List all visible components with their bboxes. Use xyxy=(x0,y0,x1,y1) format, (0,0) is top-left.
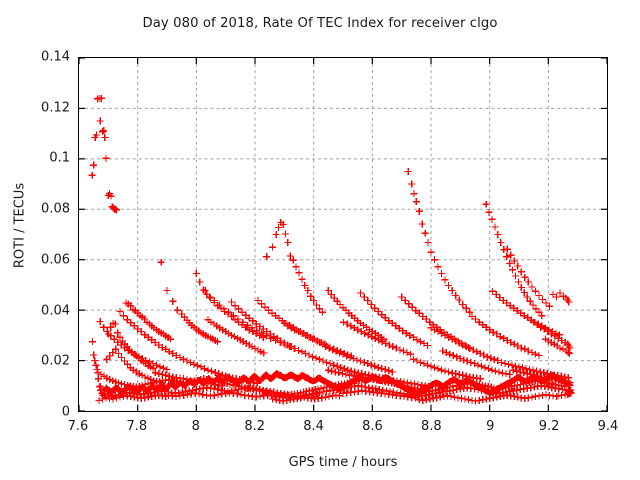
axis-ticks xyxy=(79,58,607,411)
y-tick-label: 0.02 xyxy=(41,354,70,369)
x-tick-label: 7.6 xyxy=(68,419,89,434)
x-tick-label: 9.2 xyxy=(539,419,560,434)
grid-layer xyxy=(79,58,607,411)
y-tick-label: 0.1 xyxy=(49,151,70,166)
x-tick-label: 8.8 xyxy=(421,419,442,434)
y-tick-label: 0.12 xyxy=(41,100,70,115)
x-tick-label: 8.6 xyxy=(362,419,383,434)
y-tick-label: 0.08 xyxy=(41,202,70,217)
x-tick-label: 8 xyxy=(192,419,200,434)
scatter-series-roti xyxy=(79,58,607,411)
chart-figure: Day 080 of 2018, Rate Of TEC Index for r… xyxy=(0,0,640,480)
x-tick-label: 9 xyxy=(486,419,494,434)
y-tick-label: 0 xyxy=(62,405,70,420)
x-tick-label: 9.4 xyxy=(598,419,619,434)
chart-title: Day 080 of 2018, Rate Of TEC Index for r… xyxy=(0,16,640,31)
y-tick-label: 0.06 xyxy=(41,252,70,267)
x-tick-label: 8.4 xyxy=(303,419,324,434)
x-axis-tick-labels: 7.67.888.28.48.68.899.29.4 xyxy=(78,419,608,439)
y-axis-tick-labels: 00.020.040.060.080.10.120.14 xyxy=(0,57,70,412)
x-tick-label: 8.2 xyxy=(244,419,265,434)
y-tick-label: 0.14 xyxy=(41,50,70,65)
y-axis-label: ROTI / TECUs xyxy=(13,146,28,306)
x-axis-label: GPS time / hours xyxy=(78,455,608,470)
y-tick-label: 0.04 xyxy=(41,303,70,318)
plot-area xyxy=(78,57,608,412)
x-tick-label: 7.8 xyxy=(127,419,148,434)
